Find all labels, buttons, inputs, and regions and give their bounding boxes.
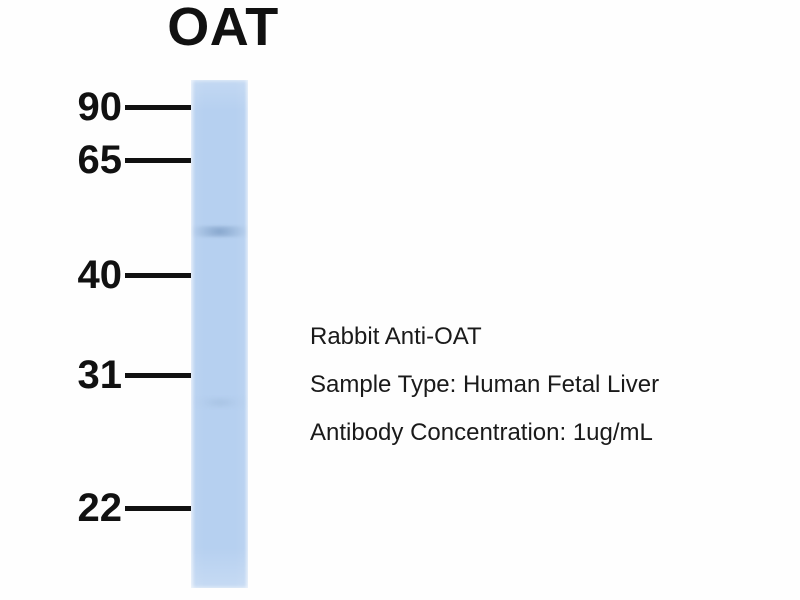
mw-tick-31 bbox=[125, 373, 191, 378]
mw-marker-65: 65 bbox=[60, 138, 195, 182]
mw-marker-22: 22 bbox=[60, 486, 195, 530]
lane-background bbox=[191, 80, 248, 588]
mw-marker-40: 40 bbox=[60, 253, 195, 297]
mw-label-65: 65 bbox=[60, 138, 122, 182]
mw-tick-90 bbox=[125, 105, 191, 110]
mw-label-90: 90 bbox=[60, 85, 122, 129]
mw-label-31: 31 bbox=[60, 353, 122, 397]
mw-tick-40 bbox=[125, 273, 191, 278]
mw-label-40: 40 bbox=[60, 253, 122, 297]
mw-marker-31: 31 bbox=[60, 353, 195, 397]
protein-band-secondary bbox=[195, 398, 245, 407]
mw-tick-65 bbox=[125, 158, 191, 163]
gel-lane bbox=[188, 78, 251, 590]
mw-label-22: 22 bbox=[60, 486, 122, 530]
annotation-sample-type: Sample Type: Human Fetal Liver bbox=[310, 361, 760, 409]
mw-tick-22 bbox=[125, 506, 191, 511]
annotation-concentration: Antibody Concentration: 1ug/mL bbox=[310, 409, 760, 457]
western-blot-figure: OAT 90 65 40 31 22 Rabbit Anti-OAT Sampl… bbox=[0, 0, 800, 600]
mw-marker-90: 90 bbox=[60, 85, 195, 129]
annotation-block: Rabbit Anti-OAT Sample Type: Human Fetal… bbox=[310, 313, 760, 457]
protein-band-primary bbox=[192, 226, 247, 237]
page-title: OAT bbox=[158, 0, 288, 56]
annotation-antibody: Rabbit Anti-OAT bbox=[310, 313, 760, 361]
lane-sheen-overlay bbox=[191, 80, 248, 588]
